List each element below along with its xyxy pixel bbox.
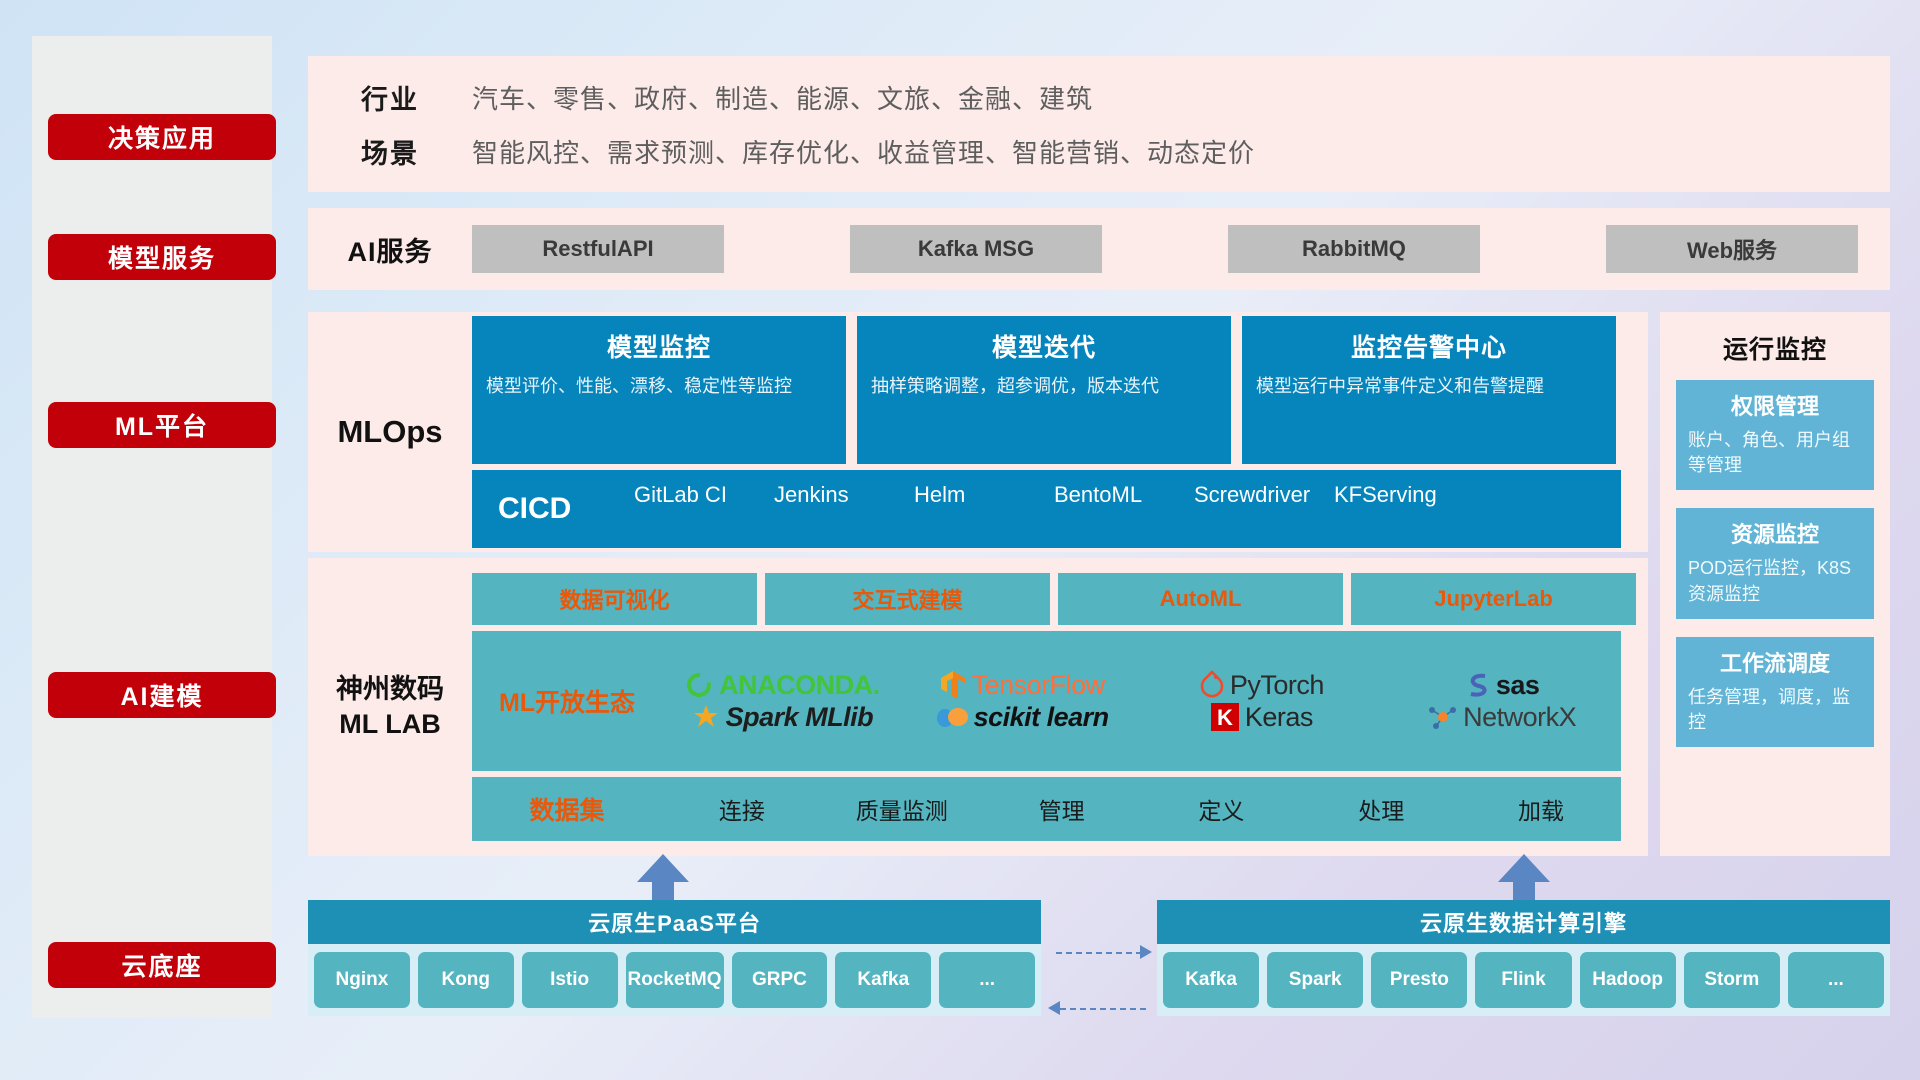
cicd-item-gitlab-ci[interactable]: GitLab CI [634, 483, 774, 535]
cicd-item-bentoml[interactable]: BentoML [1054, 483, 1194, 535]
mlops-card-desc: 模型运行中异常事件定义和告警提醒 [1256, 374, 1602, 400]
engine-chip-flink[interactable]: Flink [1475, 952, 1571, 1008]
ml-lab-label: 神州数码 ML LAB [308, 672, 472, 742]
layer-chip-ml-platform[interactable]: ML平台 [48, 402, 276, 448]
runtime-monitoring-title: 运行监控 [1676, 330, 1874, 366]
dataset-item-quality-monitoring[interactable]: 质量监测 [822, 792, 982, 826]
mlops-panel: MLOps 模型监控 模型评价、性能、漂移、稳定性等监控 模型迭代 抽样策略调整… [308, 312, 1648, 552]
engine-chip-storm[interactable]: Storm [1684, 952, 1780, 1008]
mlops-card-model-monitoring[interactable]: 模型监控 模型评价、性能、漂移、稳定性等监控 [472, 316, 846, 464]
dataset-item-define[interactable]: 定义 [1141, 792, 1301, 826]
dataset-item-group: 连接 质量监测 管理 定义 处理 加载 [662, 792, 1621, 826]
service-chip-web[interactable]: Web服务 [1606, 225, 1858, 273]
lab-tab-data-visualization[interactable]: 数据可视化 [472, 573, 757, 625]
service-chip-kafka-msg[interactable]: Kafka MSG [850, 225, 1102, 273]
keras-logo: K Keras [1210, 702, 1313, 733]
lab-tab-automl[interactable]: AutoML [1058, 573, 1343, 625]
mlops-card-title: 模型监控 [486, 328, 832, 364]
engine-chip-more[interactable]: ... [1788, 952, 1884, 1008]
engine-chip-kafka[interactable]: Kafka [1163, 952, 1259, 1008]
cloud-data-engine-chip-group: Kafka Spark Presto Flink Hadoop Storm ..… [1157, 944, 1890, 1016]
industry-label: 行业 [308, 78, 472, 117]
monitor-card-resource[interactable]: 资源监控 POD运行监控，K8S资源监控 [1676, 508, 1874, 618]
anaconda-logo-text: ANACONDA. [719, 670, 880, 701]
mlops-card-alert-center[interactable]: 监控告警中心 模型运行中异常事件定义和告警提醒 [1242, 316, 1616, 464]
architecture-diagram: 决策应用 模型服务 ML平台 AI建模 云底座 行业 汽车、零售、政府、制造、能… [0, 0, 1920, 1080]
engine-chip-hadoop[interactable]: Hadoop [1580, 952, 1676, 1008]
paas-chip-istio[interactable]: Istio [522, 952, 618, 1008]
monitor-card-workflow[interactable]: 工作流调度 任务管理，调度，监控 [1676, 637, 1874, 747]
runtime-monitoring-panel: 运行监控 权限管理 账户、角色、用户组等管理 资源监控 POD运行监控，K8S资… [1660, 312, 1890, 856]
cloud-data-engine-title: 云原生数据计算引擎 [1157, 900, 1890, 944]
cicd-item-screwdriver[interactable]: Screwdriver [1194, 483, 1334, 535]
ml-lab-stack: 数据可视化 交互式建模 AutoML JupyterLab ML开放生态 ANA… [472, 573, 1636, 841]
cicd-item-jenkins[interactable]: Jenkins [774, 483, 914, 535]
cloud-paas-title: 云原生PaaS平台 [308, 900, 1041, 944]
cloud-paas-block: 云原生PaaS平台 Nginx Kong Istio RocketMQ GRPC… [308, 900, 1041, 1016]
monitor-card-title: 工作流调度 [1688, 646, 1862, 678]
ml-lab-tab-group: 数据可视化 交互式建模 AutoML JupyterLab [472, 573, 1636, 625]
monitor-card-title: 资源监控 [1688, 517, 1862, 549]
scikit-learn-logo-text: scikit learn [974, 702, 1109, 733]
monitor-card-title: 权限管理 [1688, 389, 1862, 421]
dataset-item-load[interactable]: 加载 [1461, 792, 1621, 826]
layer-chip-ai-modeling[interactable]: AI建模 [48, 672, 276, 718]
layer-chip-decision-app[interactable]: 决策应用 [48, 114, 276, 160]
service-chip-rabbitmq[interactable]: RabbitMQ [1228, 225, 1480, 273]
ai-service-panel: AI服务 RestfulAPI Kafka MSG RabbitMQ Web服务 [308, 208, 1890, 290]
ml-lab-label-line2: ML LAB [308, 707, 472, 742]
ecosystem-label: ML开放生态 [472, 683, 662, 719]
sas-logo: sas [1463, 670, 1540, 701]
pytorch-logo: PyTorch [1199, 670, 1324, 701]
mlops-card-model-iteration[interactable]: 模型迭代 抽样策略调整，超参调优，版本迭代 [857, 316, 1231, 464]
mlops-label: MLOps [308, 414, 472, 450]
engine-chip-spark[interactable]: Spark [1267, 952, 1363, 1008]
tensorflow-logo: TensorFlow [939, 669, 1105, 701]
lab-tab-interactive-modeling[interactable]: 交互式建模 [765, 573, 1050, 625]
layer-rail [32, 36, 272, 1018]
cloud-data-engine-block: 云原生数据计算引擎 Kafka Spark Presto Flink Hadoo… [1157, 900, 1890, 1016]
service-chip-restfulapi[interactable]: RestfulAPI [472, 225, 724, 273]
cicd-bar: CICD GitLab CI Jenkins Helm BentoML Scre… [472, 470, 1621, 548]
cicd-item-helm[interactable]: Helm [914, 483, 1054, 535]
dataset-item-connect[interactable]: 连接 [662, 792, 822, 826]
dataset-item-process[interactable]: 处理 [1301, 792, 1461, 826]
mlops-card-desc: 抽样策略调整，超参调优，版本迭代 [871, 374, 1217, 400]
industry-row: 行业 汽车、零售、政府、制造、能源、文旅、金融、建筑 [308, 70, 1890, 124]
applications-panel: 行业 汽车、零售、政府、制造、能源、文旅、金融、建筑 场景 智能风控、需求预测、… [308, 56, 1890, 192]
cloud-paas-chip-group: Nginx Kong Istio RocketMQ GRPC Kafka ... [308, 944, 1041, 1016]
monitor-card-desc: 账户、角色、用户组等管理 [1688, 428, 1862, 478]
layer-chip-cloud-base[interactable]: 云底座 [48, 942, 276, 988]
ai-service-chip-group: RestfulAPI Kafka MSG RabbitMQ Web服务 [472, 225, 1858, 273]
mlops-stack: 模型监控 模型评价、性能、漂移、稳定性等监控 模型迭代 抽样策略调整，超参调优，… [472, 316, 1621, 548]
sas-logo-text: sas [1496, 670, 1540, 701]
paas-chip-kong[interactable]: Kong [418, 952, 514, 1008]
dataset-row: 数据集 连接 质量监测 管理 定义 处理 加载 [472, 777, 1621, 841]
dataset-item-manage[interactable]: 管理 [982, 792, 1142, 826]
scenario-label: 场景 [308, 132, 472, 171]
spark-logo-text: Spark MLlib [726, 702, 874, 733]
ecosystem-row: ML开放生态 ANACONDA. TensorFlow PyTorch [472, 631, 1621, 771]
mlops-card-title: 模型迭代 [871, 328, 1217, 364]
paas-chip-rocketmq[interactable]: RocketMQ [626, 952, 724, 1008]
paas-chip-more[interactable]: ... [939, 952, 1035, 1008]
layer-chip-model-service[interactable]: 模型服务 [48, 234, 276, 280]
mlops-card-group: 模型监控 模型评价、性能、漂移、稳定性等监控 模型迭代 抽样策略调整，超参调优，… [472, 316, 1621, 464]
monitor-card-permission[interactable]: 权限管理 账户、角色、用户组等管理 [1676, 380, 1874, 490]
keras-logo-text: Keras [1245, 702, 1313, 733]
lab-tab-jupyterlab[interactable]: JupyterLab [1351, 573, 1636, 625]
scenario-values: 智能风控、需求预测、库存优化、收益管理、智能营销、动态定价 [472, 133, 1255, 170]
paas-chip-grpc[interactable]: GRPC [732, 952, 828, 1008]
tensorflow-logo-text: TensorFlow [972, 670, 1105, 701]
svg-text:K: K [1217, 705, 1233, 730]
monitor-card-desc: 任务管理，调度，监控 [1688, 685, 1862, 735]
ai-service-label: AI服务 [308, 230, 472, 269]
ml-lab-label-line1: 神州数码 [308, 672, 472, 707]
cicd-item-kfserving[interactable]: KFServing [1334, 483, 1474, 535]
pytorch-logo-text: PyTorch [1230, 670, 1324, 701]
dataset-label: 数据集 [472, 791, 662, 827]
mlops-card-title: 监控告警中心 [1256, 328, 1602, 364]
cicd-title: CICD [498, 492, 634, 526]
ml-lab-panel: 神州数码 ML LAB 数据可视化 交互式建模 AutoML JupyterLa… [308, 558, 1648, 856]
scenario-row: 场景 智能风控、需求预测、库存优化、收益管理、智能营销、动态定价 [308, 124, 1890, 178]
spark-mllib-logo: Spark MLlib [691, 702, 874, 733]
paas-chip-nginx[interactable]: Nginx [314, 952, 410, 1008]
mlops-card-desc: 模型评价、性能、漂移、稳定性等监控 [486, 374, 832, 400]
paas-chip-kafka[interactable]: Kafka [835, 952, 931, 1008]
monitor-card-desc: POD运行监控，K8S资源监控 [1688, 556, 1862, 606]
anaconda-logo: ANACONDA. [684, 670, 880, 701]
networkx-logo-text: NetworkX [1463, 702, 1576, 733]
industry-values: 汽车、零售、政府、制造、能源、文旅、金融、建筑 [472, 79, 1093, 116]
ecosystem-logo-grid: ANACONDA. TensorFlow PyTorch sas [662, 669, 1621, 733]
engine-chip-presto[interactable]: Presto [1371, 952, 1467, 1008]
scikit-learn-logo: scikit learn [935, 702, 1109, 733]
networkx-logo: NetworkX [1426, 702, 1576, 733]
